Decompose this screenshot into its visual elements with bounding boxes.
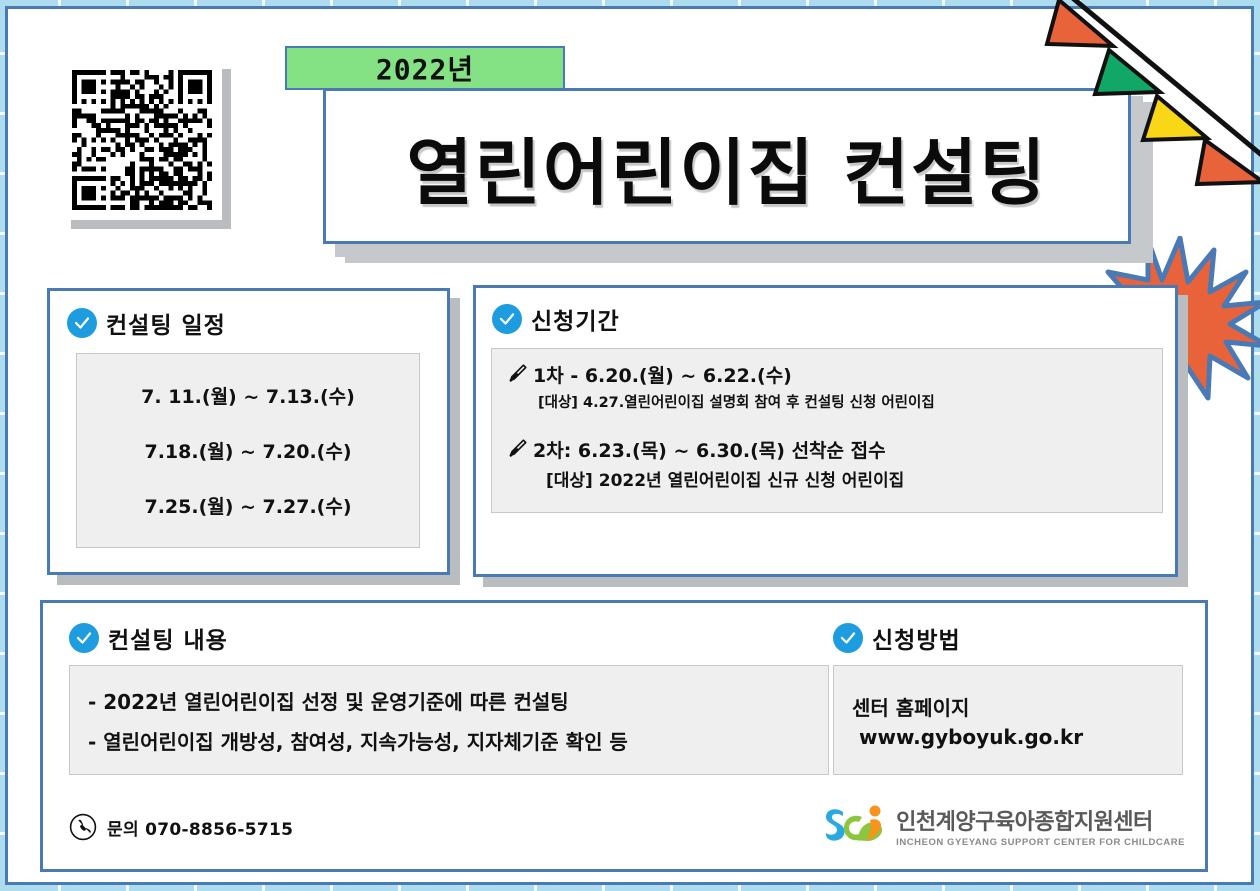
check-icon [69,623,99,653]
year-label: 2022년 [376,48,474,88]
period-item-sub: [대상] 2022년 열린어린이집 신규 신청 어린이집 [506,466,1148,491]
period-details-box: 1차 - 6.20.(월) ~ 6.22.(수) [대상] 4.27.열린어린이… [491,348,1163,513]
logo-text: 인천계양구육아종합지원센터 INCHEON GYEYANG SUPPORT CE… [896,804,1185,848]
schedule-date-row: 7.25.(월) ~ 7.27.(수) [144,492,351,519]
content-heading-label: 컨설팅 내용 [108,621,228,655]
application-period-panel: 신청기간 1차 - 6.20.(월) ~ 6.22.(수) [대상] 4.27.… [473,285,1178,577]
pencil-icon [506,437,528,459]
spacer [506,418,1148,436]
method-heading: 신청방법 [833,621,961,655]
contact-info: 문의 070-8856-5715 [69,813,293,841]
period-item-main-row: 1차 - 6.20.(월) ~ 6.22.(수) [506,361,1148,388]
method-label: 센터 홈페이지 [852,692,1164,721]
schedule-dates-box: 7. 11.(월) ~ 7.13.(수) 7.18.(월) ~ 7.20.(수)… [76,353,420,548]
schedule-date-row: 7.18.(월) ~ 7.20.(수) [144,437,351,464]
period-item-main: 1차 - 6.20.(월) ~ 6.22.(수) [533,361,792,388]
bunting-flags-icon [1035,0,1260,194]
pencil-icon [506,362,528,384]
period-item-sub: [대상] 4.27.열린어린이집 설명회 참여 후 컨설팅 신청 어린이집 [506,391,1148,412]
bottom-panel: 컨설팅 내용 - 2022년 열린어린이집 선정 및 운영기준에 따른 컨설팅 … [40,600,1208,872]
phone-icon [69,813,97,841]
year-badge: 2022년 [285,46,565,90]
content-list-box: - 2022년 열린어린이집 선정 및 운영기준에 따른 컨설팅 - 열린어린이… [69,665,829,775]
period-item-main-row: 2차: 6.23.(목) ~ 6.30.(목) 선착순 접수 [506,436,1148,463]
organization-logo: 인천계양구육아종합지원센터 INCHEON GYEYANG SUPPORT CE… [822,803,1185,849]
period-heading-label: 신청기간 [531,302,620,336]
schedule-heading-label: 컨설팅 일정 [106,306,226,340]
period-heading: 신청기간 [492,302,620,336]
check-icon [492,304,522,334]
schedule-date-row: 7. 11.(월) ~ 7.13.(수) [141,382,355,409]
method-heading-label: 신청방법 [872,621,961,655]
schedule-panel: 컨설팅 일정 7. 11.(월) ~ 7.13.(수) 7.18.(월) ~ 7… [47,288,450,575]
logo-name-korean: 인천계양구육아종합지원센터 [896,804,1185,836]
method-box: 센터 홈페이지 www.gyboyuk.go.kr [833,665,1183,775]
contact-text: 문의 070-8856-5715 [107,815,293,840]
content-line: - 열린어린이집 개방성, 참여성, 지속가능성, 지자체기준 확인 등 [88,726,810,755]
schedule-heading: 컨설팅 일정 [67,306,226,340]
qr-code[interactable] [72,70,212,210]
qr-code-card[interactable] [62,60,222,220]
period-item: 1차 - 6.20.(월) ~ 6.22.(수) [대상] 4.27.열린어린이… [506,361,1148,412]
qr-code-block [62,60,222,220]
period-item-main: 2차: 6.23.(목) ~ 6.30.(목) 선착순 접수 [533,436,886,463]
check-icon [67,308,97,338]
logo-name-english: INCHEON GYEYANG SUPPORT CENTER FOR CHILD… [896,837,1185,848]
content-heading: 컨설팅 내용 [69,621,228,655]
logo-mark-icon [822,803,888,849]
page-title: 열린어린이집 컨설팅 [406,114,1047,219]
title-card: 열린어린이집 컨설팅 [323,88,1131,244]
period-item: 2차: 6.23.(목) ~ 6.30.(목) 선착순 접수 [대상] 2022… [506,436,1148,491]
check-icon [833,623,863,653]
title-card-stack: 열린어린이집 컨설팅 [323,88,1153,263]
content-line: - 2022년 열린어린이집 선정 및 운영기준에 따른 컨설팅 [88,686,810,715]
method-url[interactable]: www.gyboyuk.go.kr [852,725,1164,749]
